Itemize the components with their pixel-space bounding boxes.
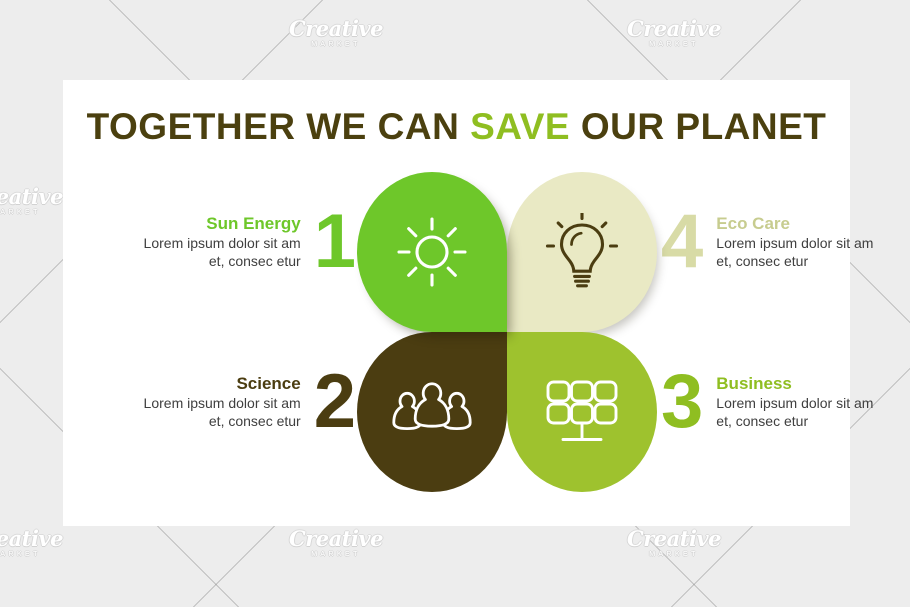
segment-description: Lorem ipsum dolor sit am et, consec etur — [141, 235, 301, 270]
segment-number: 3 — [661, 370, 703, 434]
infographic-card: TOGETHER WE CAN SAVE OUR PLANET — [63, 80, 850, 526]
segment-description: Lorem ipsum dolor sit am et, consec etur — [716, 395, 876, 430]
four-petal-diagram — [357, 172, 657, 492]
caption-text-block: Sun Energy Lorem ipsum dolor sit am et, … — [141, 214, 301, 271]
caption-text-block: Business Lorem ipsum dolor sit am et, co… — [716, 374, 876, 431]
segment-caption-sun-energy: Sun Energy Lorem ipsum dolor sit am et, … — [141, 210, 356, 274]
segment-title: Eco Care — [716, 214, 876, 234]
segment-caption-business: 3 Business Lorem ipsum dolor sit am et, … — [661, 370, 876, 434]
solar-panel-icon — [507, 332, 657, 492]
segment-number: 2 — [314, 370, 356, 434]
headline-accent-word: SAVE — [470, 106, 570, 147]
petal-science[interactable] — [357, 332, 507, 492]
petal-sun-energy[interactable] — [357, 172, 507, 332]
headline-part-1: TOGETHER WE CAN — [87, 106, 471, 147]
segment-description: Lorem ipsum dolor sit am et, consec etur — [716, 235, 876, 270]
segment-number: 1 — [314, 210, 356, 274]
page-title: TOGETHER WE CAN SAVE OUR PLANET — [63, 106, 850, 148]
sun-icon — [357, 172, 507, 332]
segment-title: Science — [141, 374, 301, 394]
segment-description: Lorem ipsum dolor sit am et, consec etur — [141, 395, 301, 430]
segment-number: 4 — [661, 210, 703, 274]
caption-text-block: Science Lorem ipsum dolor sit am et, con… — [141, 374, 301, 431]
people-group-icon — [357, 332, 507, 492]
petal-eco-care[interactable] — [507, 172, 657, 332]
petal-business[interactable] — [507, 332, 657, 492]
segment-title: Sun Energy — [141, 214, 301, 234]
segment-title: Business — [716, 374, 876, 394]
segment-caption-science: Science Lorem ipsum dolor sit am et, con… — [141, 370, 356, 434]
lightbulb-icon — [507, 172, 657, 332]
headline-part-2: OUR PLANET — [570, 106, 826, 147]
caption-text-block: Eco Care Lorem ipsum dolor sit am et, co… — [716, 214, 876, 271]
segment-caption-eco-care: 4 Eco Care Lorem ipsum dolor sit am et, … — [661, 210, 876, 274]
